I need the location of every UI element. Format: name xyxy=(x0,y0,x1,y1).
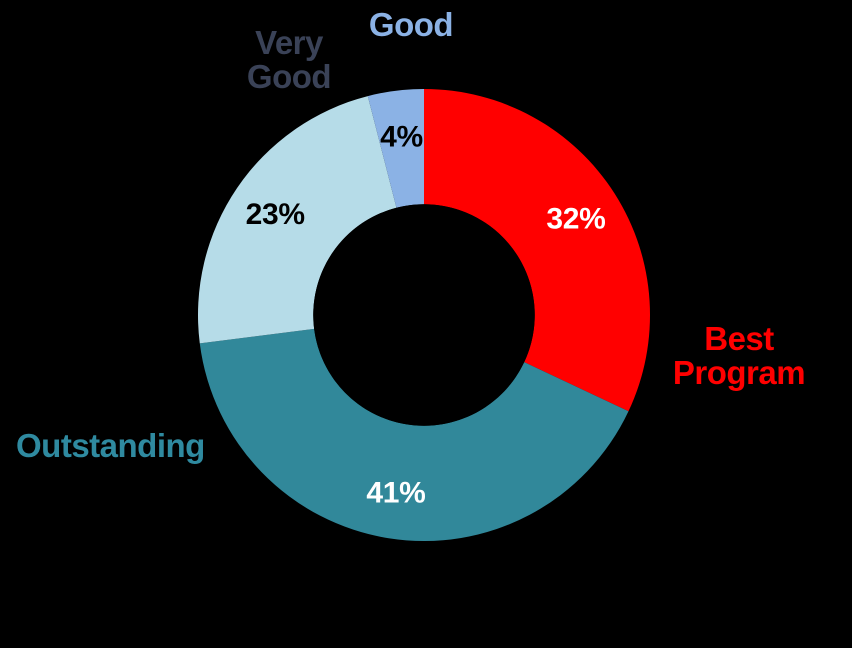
donut-center-hole xyxy=(313,204,534,425)
slice-value-good: 4% xyxy=(380,121,423,154)
slice-label-good: Good xyxy=(336,8,486,42)
donut-chart: 32%41%23%4% Best Program Outstanding Ver… xyxy=(0,0,852,648)
slice-value-best-program: 32% xyxy=(546,203,605,236)
slice-value-outstanding: 41% xyxy=(366,477,425,510)
slice-label-best-program: Best Program xyxy=(634,322,844,390)
slice-label-outstanding: Outstanding xyxy=(16,429,246,463)
slice-value-very-good: 23% xyxy=(246,198,305,231)
